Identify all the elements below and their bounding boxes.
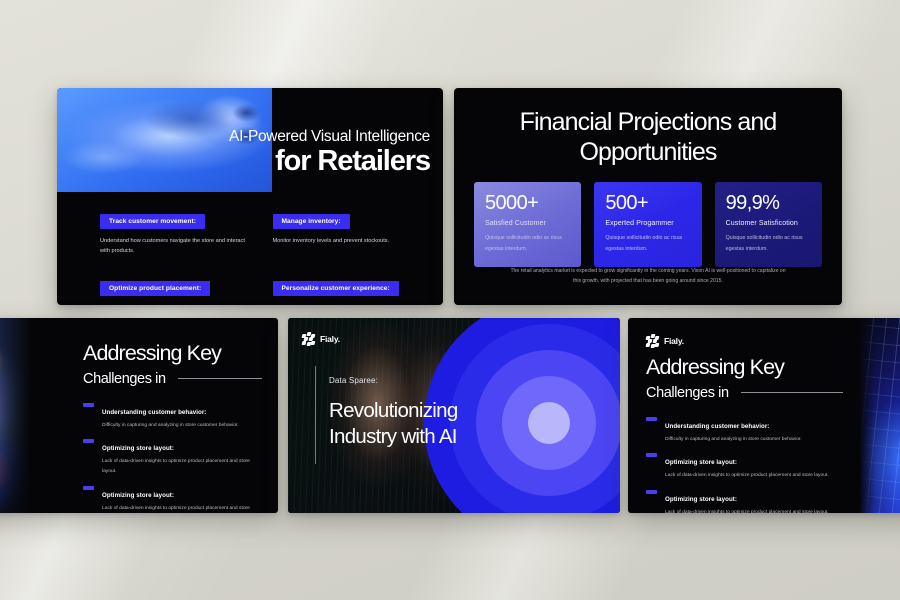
revolutionizing-title-line2: Industry with AI	[329, 424, 458, 450]
vertical-accent-rule	[315, 366, 316, 464]
dash-bullet-icon	[646, 453, 657, 457]
list-item[interactable]: Optimizing store layout: Lack of data-dr…	[83, 437, 262, 476]
challenges-list: Understanding customer behavior: Difficu…	[83, 401, 262, 513]
list-item-head: Optimizing store layout:	[102, 445, 174, 452]
title-divider	[741, 392, 843, 393]
feature-block: Optimize product placement: Identify opt…	[100, 277, 251, 305]
list-item-head: Understanding customer behavior:	[665, 423, 769, 430]
dash-bullet-icon	[646, 417, 657, 421]
brand-name: Fialy.	[320, 334, 340, 344]
challenges-subtitle-row: Challenges in	[646, 385, 843, 401]
slide-revolutionizing-industry-with-ai[interactable]: Fialy. Data Sparee: Revolutionizing Indu…	[288, 318, 620, 513]
dash-bullet-icon	[646, 490, 657, 494]
list-item[interactable]: Optimizing store layout: Lack of data-dr…	[646, 488, 843, 513]
list-item-desc: Lack of data-driven insights to optimize…	[665, 508, 829, 513]
stat-label: Experted Progammer	[605, 220, 690, 227]
challenges-content-right: Fialy. Addressing Key Challenges in Unde…	[628, 318, 900, 513]
revolutionizing-title: Revolutionizing Industry with AI	[329, 398, 458, 449]
challenges-title-line2: Challenges in	[83, 371, 166, 387]
challenges-title-line1: Addressing Key	[83, 342, 262, 365]
stat-card-row: 5000+ Satisfied Customer Quisque sollici…	[474, 182, 822, 267]
list-item-desc: Difficulty in capturing and analyzing in…	[102, 421, 239, 430]
stat-label: Customer Satisficotion	[726, 220, 811, 227]
dash-bullet-icon	[83, 439, 94, 443]
list-item[interactable]: Optimizing store layout: Lack of data-dr…	[646, 451, 843, 480]
challenges-subtitle-row: Challenges in	[83, 371, 262, 387]
stat-sub: Quisque sollicitudin odio ac risus egest…	[605, 233, 690, 254]
ring-inner	[528, 402, 570, 444]
slide-addressing-key-challenges-left[interactable]: Addressing Key Challenges in Understandi…	[0, 318, 278, 513]
feature-chip[interactable]: Track customer movement:	[100, 214, 205, 229]
stat-card[interactable]: 5000+ Satisfied Customer Quisque sollici…	[474, 182, 581, 267]
feature-chip[interactable]: Manage inventory:	[273, 214, 350, 229]
list-item-desc: Difficulty in capturing and analyzing in…	[665, 435, 802, 444]
feature-block: Track customer movement: Understand how …	[100, 210, 251, 257]
financial-title: Financial Projections and Opportunities	[454, 108, 842, 167]
dash-bullet-icon	[83, 486, 94, 490]
list-item[interactable]: Understanding customer behavior: Difficu…	[646, 415, 843, 444]
feature-chip[interactable]: Personalize customer experience:	[273, 281, 399, 296]
slide-addressing-key-challenges-right[interactable]: Fialy. Addressing Key Challenges in Unde…	[628, 318, 900, 513]
slide-gallery: AI-Powered Visual Intelligence for Retai…	[0, 0, 900, 600]
stat-card[interactable]: 99,9% Customer Satisficotion Quisque sol…	[715, 182, 822, 267]
slide-ai-powered-visual-intelligence[interactable]: AI-Powered Visual Intelligence for Retai…	[57, 88, 443, 305]
feature-body: Deliver targeted promotions and recommen…	[273, 303, 423, 305]
challenges-list: Understanding customer behavior: Difficu…	[646, 415, 843, 513]
list-item-head: Optimizing store layout:	[102, 492, 174, 499]
brand-logo[interactable]: Fialy.	[646, 334, 684, 347]
list-item-desc: Lack of data-driven insights to optimize…	[665, 471, 829, 480]
hero-title-block: AI-Powered Visual Intelligence for Retai…	[229, 128, 430, 177]
stat-sub: Quisque sollicitudin odio ac risus egest…	[726, 233, 811, 254]
list-item-head: Optimizing store layout:	[665, 496, 737, 503]
title-divider	[178, 378, 262, 379]
hero-title-line1: AI-Powered Visual Intelligence	[229, 128, 430, 145]
slide-financial-projections[interactable]: Financial Projections and Opportunities …	[454, 88, 842, 305]
dash-bullet-icon	[83, 403, 94, 407]
stat-number: 5000+	[485, 193, 570, 213]
feature-chip[interactable]: Optimize product placement:	[100, 281, 210, 296]
revolutionizing-eyebrow: Data Sparee:	[329, 376, 378, 385]
list-item-head: Optimizing store layout:	[665, 459, 737, 466]
stat-card[interactable]: 500+ Experted Progammer Quisque sollicit…	[594, 182, 701, 267]
stat-sub: Quisque sollicitudin odio ac risus egest…	[485, 233, 570, 254]
feature-body: Understand how customers navigate the st…	[100, 236, 250, 257]
challenges-content-left: Addressing Key Challenges in Understandi…	[0, 318, 278, 513]
brand-logo[interactable]: Fialy.	[302, 332, 340, 345]
list-item[interactable]: Understanding customer behavior: Difficu…	[83, 401, 262, 430]
feature-block: Personalize customer experience: Deliver…	[273, 277, 424, 305]
list-item-desc: Lack of data-driven insights to optimize…	[102, 457, 262, 476]
hero-title-line2: for Retailers	[229, 146, 430, 177]
list-item-desc: Lack of data-driven insights to optimize…	[102, 504, 262, 514]
stat-label: Satisfied Customer	[485, 220, 570, 227]
feature-block: Manage inventory: Monitor inventory leve…	[273, 210, 424, 257]
revolutionizing-title-line1: Revolutionizing	[329, 398, 458, 424]
hero-feature-grid: Track customer movement: Understand how …	[100, 210, 423, 305]
fialy-dots-logo-icon	[302, 332, 315, 345]
challenges-title-line1: Addressing Key	[646, 356, 843, 379]
list-item-head: Understanding customer behavior:	[102, 409, 206, 416]
brand-name: Fialy.	[664, 336, 684, 346]
financial-footnote: The retail analytics market is expected …	[510, 266, 786, 287]
fialy-dots-logo-icon	[646, 334, 659, 347]
feature-body: Identify optimal locations for products …	[100, 303, 250, 305]
challenges-title-line2: Challenges in	[646, 385, 729, 401]
list-item[interactable]: Optimizing store layout: Lack of data-dr…	[83, 484, 262, 514]
stat-number: 99,9%	[726, 193, 811, 213]
feature-body: Monitor inventory levels and prevent sto…	[273, 236, 423, 246]
stat-number: 500+	[605, 193, 690, 213]
